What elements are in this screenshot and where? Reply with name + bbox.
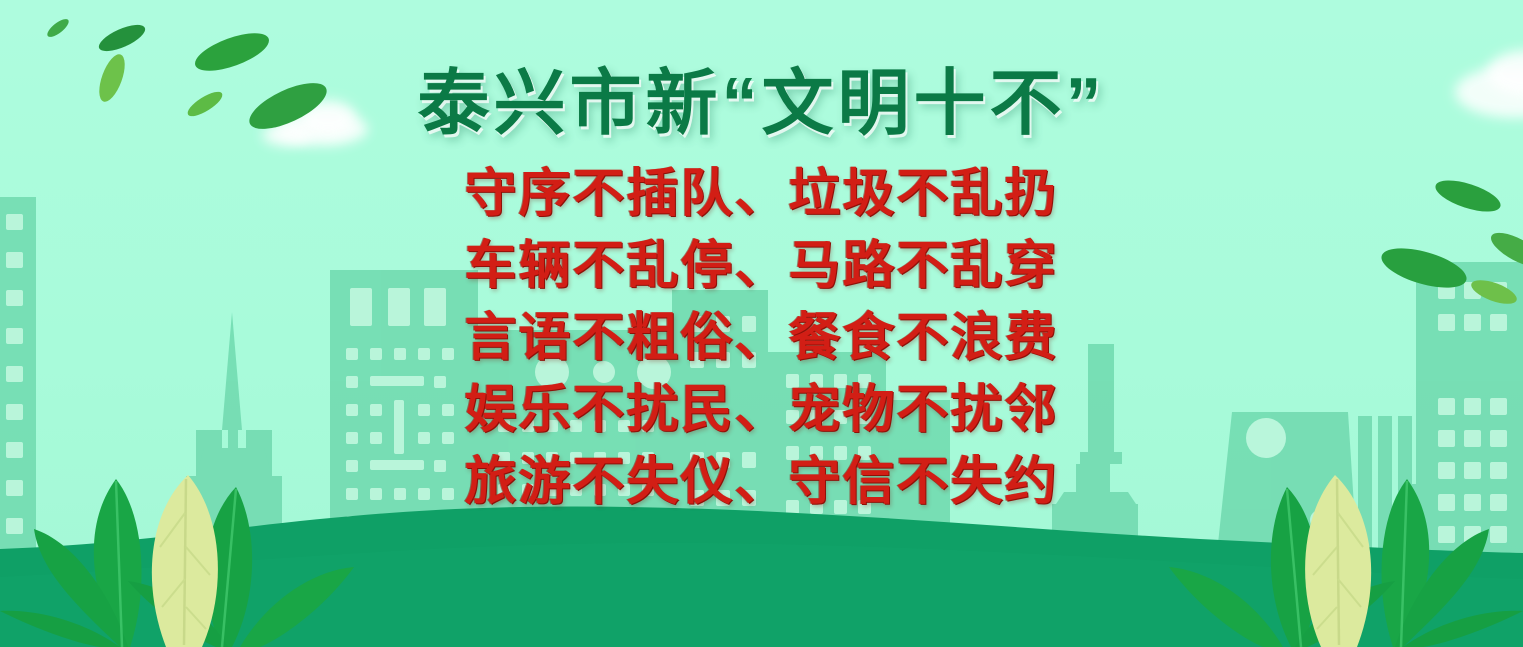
slogan-line: 旅游不失仪、守信不失约	[464, 456, 1058, 509]
poster-banner: 泰兴市新“文明十不” 守序不插队、垃圾不乱扔 车辆不乱停、马路不乱穿 言语不粗俗…	[0, 0, 1523, 647]
slogan-line: 言语不粗俗、餐食不浪费	[464, 312, 1058, 365]
slogan-line: 车辆不乱停、马路不乱穿	[464, 240, 1058, 293]
page-title: 泰兴市新“文明十不”	[417, 66, 1105, 144]
slogan-line: 守序不插队、垃圾不乱扔	[464, 168, 1058, 221]
poster-content: 泰兴市新“文明十不” 守序不插队、垃圾不乱扔 车辆不乱停、马路不乱穿 言语不粗俗…	[0, 0, 1523, 647]
slogan-list: 守序不插队、垃圾不乱扔 车辆不乱停、马路不乱穿 言语不粗俗、餐食不浪费 娱乐不扰…	[464, 168, 1058, 509]
slogan-line: 娱乐不扰民、宠物不扰邻	[464, 384, 1058, 437]
